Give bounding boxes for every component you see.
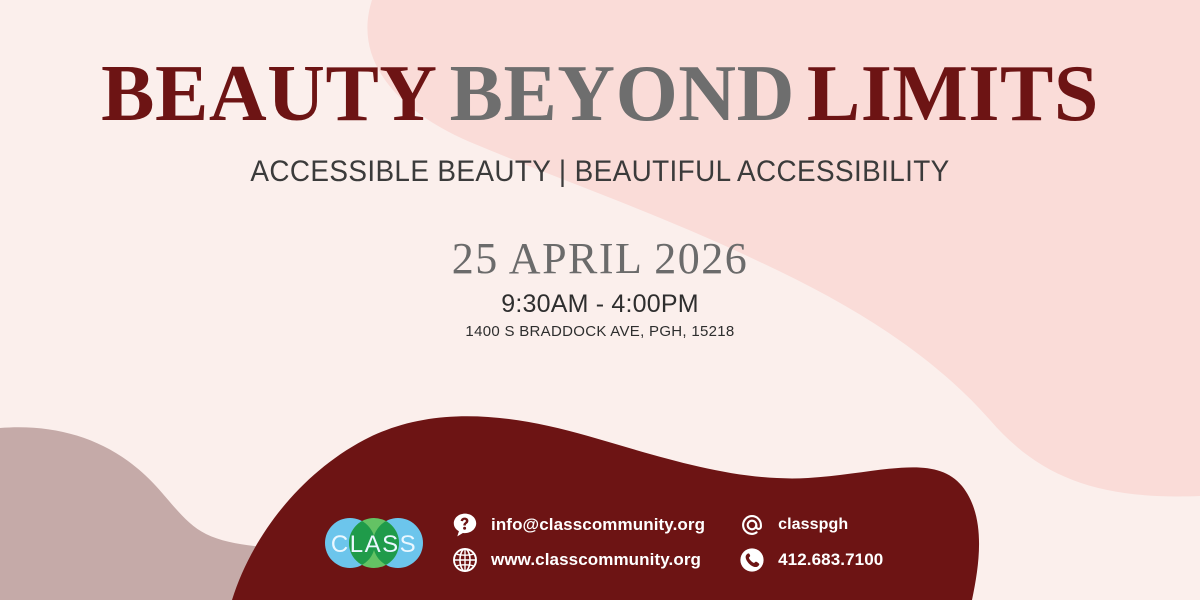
contact-row-social[interactable]: classpgh	[739, 512, 883, 538]
title-word-beyond: BEYOND	[450, 50, 795, 138]
contact-website-text: www.classcommunity.org	[491, 550, 701, 570]
contact-column-1: info@classcommunity.org www.classcommuni…	[452, 512, 705, 573]
contact-row-website[interactable]: www.classcommunity.org	[452, 547, 705, 573]
contact-phone-text: 412.683.7100	[778, 550, 883, 570]
title-word-limits: LIMITS	[807, 50, 1099, 138]
contact-email-text: info@classcommunity.org	[491, 515, 705, 535]
at-sign-icon	[739, 512, 765, 538]
contact-column-2: classpgh 412.683.7100	[739, 512, 883, 573]
class-logo-mark: CLASS	[322, 515, 426, 571]
phone-icon	[739, 547, 765, 573]
globe-icon	[452, 547, 478, 573]
title-word-beauty: BEAUTY	[101, 50, 437, 138]
contact-columns: info@classcommunity.org www.classcommuni…	[452, 512, 883, 573]
page-title: BEAUTYBEYONDLIMITS	[0, 54, 1200, 136]
event-address: 1400 S BRADDOCK AVE, PGH, 15218	[0, 323, 1200, 340]
question-bubble-icon	[452, 512, 478, 538]
event-time: 9:30AM - 4:00PM	[0, 290, 1200, 319]
class-logo: CLASS	[322, 515, 426, 571]
contact-bar: CLASS info@classcommunity.org	[322, 512, 883, 573]
contact-row-phone[interactable]: 412.683.7100	[739, 547, 883, 573]
logo-wordmark: CLASS	[331, 531, 417, 558]
contact-row-email[interactable]: info@classcommunity.org	[452, 512, 705, 538]
event-banner: BEAUTYBEYONDLIMITS ACCESSIBLE BEAUTY | B…	[0, 0, 1200, 600]
event-date: 25 APRIL 2026	[0, 233, 1200, 284]
tagline: ACCESSIBLE BEAUTY | BEAUTIFUL ACCESSIBIL…	[42, 155, 1158, 189]
contact-social-text: classpgh	[778, 516, 848, 534]
